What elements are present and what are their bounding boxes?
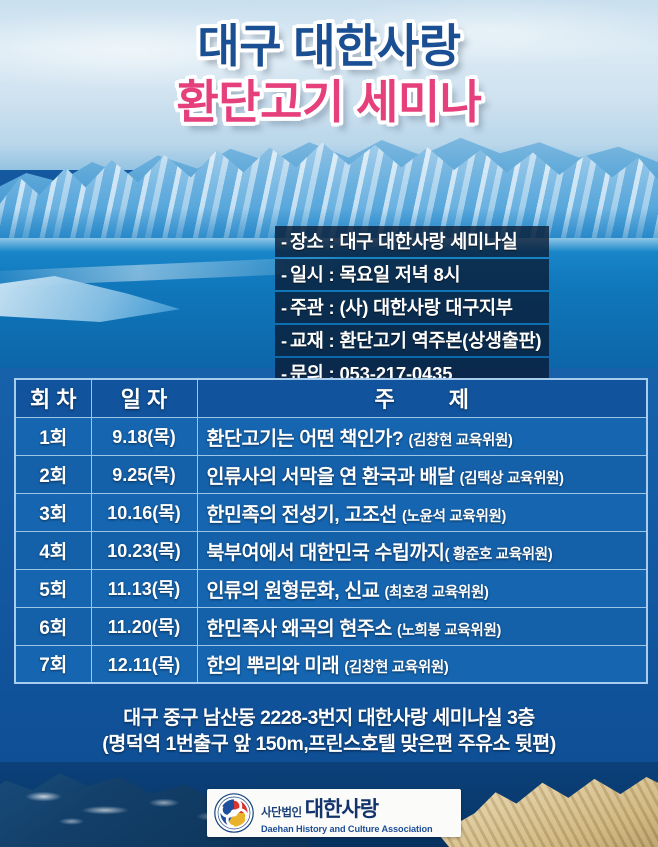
topic-text: 환단고기는 어떤 책인가? xyxy=(207,428,404,450)
cell-topic: 한민족사 왜곡의 현주소 (노희봉 교육위원) xyxy=(197,607,647,645)
cell-date: 9.25(목) xyxy=(91,455,197,493)
cell-topic: 한의 뿌리와 미래 (김창현 교육위원) xyxy=(197,645,647,683)
title-line-2: 환단고기 세미나 xyxy=(0,78,658,127)
info-dash: - xyxy=(281,231,287,252)
header-session-no: 회 차 xyxy=(15,379,91,417)
title-line-1: 대구 대한사랑 xyxy=(0,22,658,71)
topic-text: 한민족사 왜곡의 현주소 xyxy=(207,618,392,640)
cell-session-no: 1회 xyxy=(15,417,91,455)
cell-date: 10.23(목) xyxy=(91,531,197,569)
cell-session-no: 2회 xyxy=(15,455,91,493)
cell-session-no: 4회 xyxy=(15,531,91,569)
info-dash: - xyxy=(281,264,287,285)
cell-topic: 인류사의 서막을 연 환국과 배달 (김택상 교육위원) xyxy=(197,455,647,493)
cell-session-no: 7회 xyxy=(15,645,91,683)
info-value: 대구 대한사랑 세미나실 xyxy=(339,231,517,252)
info-row-textbook: -교재 : 환단고기 역주본(상생출판) xyxy=(275,325,549,356)
cell-topic: 북부여에서 대한민국 수립까지( 황준호 교육위원) xyxy=(197,531,647,569)
cell-date: 10.16(목) xyxy=(91,493,197,531)
logo-org-name: 대한사랑 xyxy=(305,793,378,823)
cell-topic: 한민족의 전성기, 고조선 (노윤석 교육위원) xyxy=(197,493,647,531)
info-label: 일시 : xyxy=(290,264,335,285)
info-value: (사) 대한사랑 대구지부 xyxy=(339,297,512,318)
info-value: 환단고기 역주본(상생출판) xyxy=(339,330,541,351)
topic-text: 인류의 원형문화, 신교 xyxy=(207,580,380,602)
cell-session-no: 6회 xyxy=(15,607,91,645)
speaker-text: (노희봉 교육위원) xyxy=(397,623,501,639)
speaker-text: ( 황준호 교육위원) xyxy=(445,547,553,563)
topic-text: 한민족의 전성기, 고조선 xyxy=(207,504,397,526)
cell-date: 11.20(목) xyxy=(91,607,197,645)
poster-title: 대구 대한사랑 환단고기 세미나 xyxy=(0,22,658,127)
table-row: 4회 10.23(목) 북부여에서 대한민국 수립까지( 황준호 교육위원) xyxy=(15,531,647,569)
table-row: 6회 11.20(목) 한민족사 왜곡의 현주소 (노희봉 교육위원) xyxy=(15,607,647,645)
header-date: 일 자 xyxy=(91,379,197,417)
info-dash: - xyxy=(281,330,287,351)
logo-corporate-prefix: 사단법인 xyxy=(261,804,302,820)
info-dash: - xyxy=(281,297,287,318)
address-line-1: 대구 중구 남산동 2228-3번지 대한사랑 세미나실 3층 xyxy=(0,705,658,731)
speaker-text: (노윤석 교육위원) xyxy=(402,509,506,525)
table-row: 2회 9.25(목) 인류사의 서막을 연 환국과 배달 (김택상 교육위원) xyxy=(15,455,647,493)
poster-root: 대구 대한사랑 환단고기 세미나 -장소 : 대구 대한사랑 세미나실 -일시 … xyxy=(0,0,658,847)
samtaegeuk-seal-icon xyxy=(214,793,254,833)
logo-english-name: Daehan History and Culture Association xyxy=(261,824,432,834)
info-value: 목요일 저녁 8시 xyxy=(339,264,460,285)
table-body: 1회 9.18(목) 환단고기는 어떤 책인가? (김창현 교육위원) 2회 9… xyxy=(15,417,647,683)
speaker-text: (김창현 교육위원) xyxy=(344,660,448,676)
cell-date: 12.11(목) xyxy=(91,645,197,683)
header-topic-right: 제 xyxy=(449,387,469,412)
header-topic-left: 주 xyxy=(375,387,395,412)
speaker-text: (최호경 교육위원) xyxy=(384,585,488,601)
seminar-schedule-table: 회 차 일 자 주제 1회 9.18(목) 환단고기는 어떤 책인가? (김창현… xyxy=(14,378,648,684)
address-line-2: (명덕역 1번출구 앞 150m,프린스호텔 맞은편 주유소 뒷편) xyxy=(0,731,658,757)
info-label: 교재 : xyxy=(290,330,335,351)
cell-topic: 인류의 원형문화, 신교 (최호경 교육위원) xyxy=(197,569,647,607)
logo-korean-line: 사단법인 대한사랑 xyxy=(261,793,432,823)
info-row-organizer: -주관 : (사) 대한사랑 대구지부 xyxy=(275,292,549,323)
topic-text: 북부여에서 대한민국 수립까지 xyxy=(207,542,445,564)
organization-logo: 사단법인 대한사랑 Daehan History and Culture Ass… xyxy=(207,789,461,837)
info-row-datetime: -일시 : 목요일 저녁 8시 xyxy=(275,259,549,290)
table-row: 1회 9.18(목) 환단고기는 어떤 책인가? (김창현 교육위원) xyxy=(15,417,647,455)
cell-session-no: 5회 xyxy=(15,569,91,607)
table-header-row: 회 차 일 자 주제 xyxy=(15,379,647,417)
speaker-text: (김창현 교육위원) xyxy=(408,433,512,449)
logo-text-block: 사단법인 대한사랑 Daehan History and Culture Ass… xyxy=(261,793,432,834)
table-head: 회 차 일 자 주제 xyxy=(15,379,647,417)
speaker-text: (김택상 교육위원) xyxy=(460,471,564,487)
cell-topic: 환단고기는 어떤 책인가? (김창현 교육위원) xyxy=(197,417,647,455)
topic-text: 인류사의 서막을 연 환국과 배달 xyxy=(207,466,455,488)
venue-address: 대구 중구 남산동 2228-3번지 대한사랑 세미나실 3층 (명덕역 1번출… xyxy=(0,705,658,758)
table-row: 3회 10.16(목) 한민족의 전성기, 고조선 (노윤석 교육위원) xyxy=(15,493,647,531)
header-topic: 주제 xyxy=(197,379,647,417)
info-row-venue: -장소 : 대구 대한사랑 세미나실 xyxy=(275,226,549,257)
cell-session-no: 3회 xyxy=(15,493,91,531)
event-info-block: -장소 : 대구 대한사랑 세미나실 -일시 : 목요일 저녁 8시 -주관 :… xyxy=(275,226,549,391)
info-label: 주관 : xyxy=(290,297,335,318)
cell-date: 11.13(목) xyxy=(91,569,197,607)
table-row: 7회 12.11(목) 한의 뿌리와 미래 (김창현 교육위원) xyxy=(15,645,647,683)
cell-date: 9.18(목) xyxy=(91,417,197,455)
topic-text: 한의 뿌리와 미래 xyxy=(207,655,340,677)
info-label: 장소 : xyxy=(290,231,335,252)
table-row: 5회 11.13(목) 인류의 원형문화, 신교 (최호경 교육위원) xyxy=(15,569,647,607)
